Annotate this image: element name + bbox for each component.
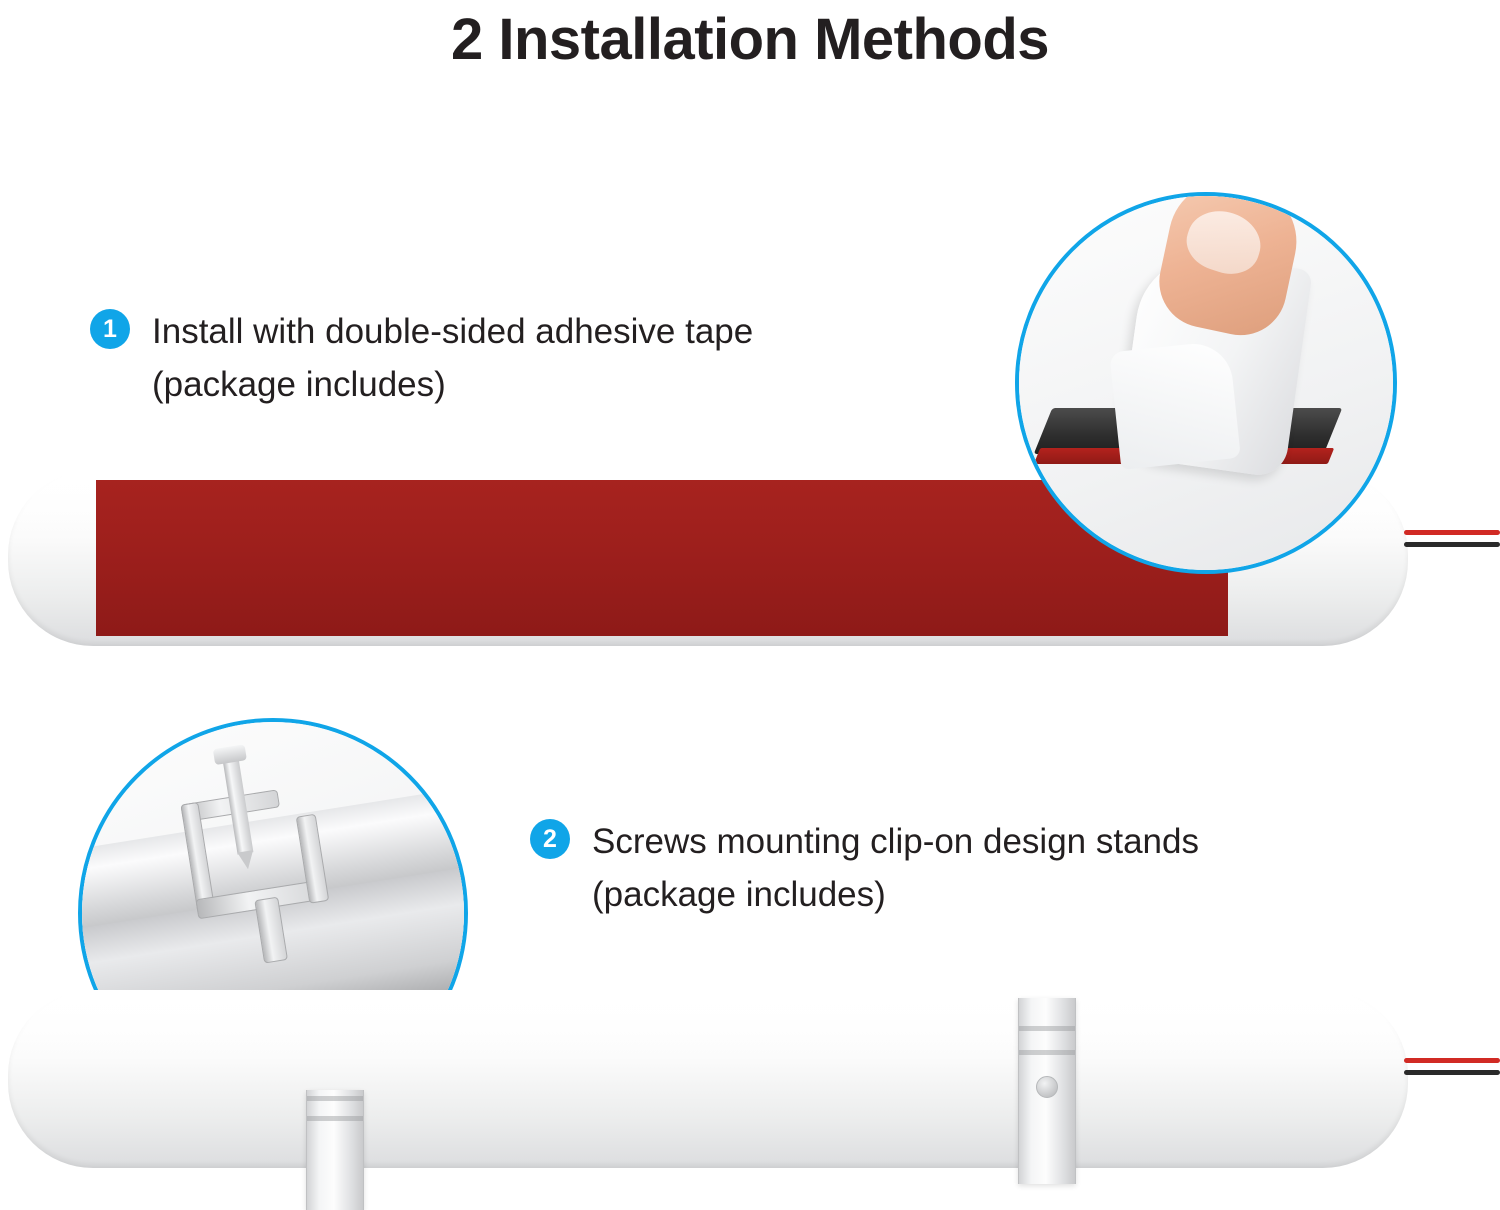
peeling-adhesive-tape-liner-photo [1015, 192, 1397, 574]
step-1-line-1: Install with double-sided adhesive tape [152, 312, 753, 351]
step-2-text: Screws mounting clip-on design stands (p… [592, 815, 1199, 921]
red-power-wire [1404, 1058, 1500, 1063]
step-1-number-badge: 1 [90, 309, 130, 349]
installation-step-2: 2 Screws mounting clip-on design stands … [530, 815, 1199, 921]
step-2-line-1: Screws mounting clip-on design stands [592, 822, 1199, 861]
page-title: 2 Installation Methods [0, 6, 1500, 73]
clip-band [1019, 1026, 1075, 1031]
clip-tab [254, 897, 288, 964]
black-power-wire [1404, 542, 1500, 547]
mounting-clip-left [306, 1090, 364, 1210]
clip-band [307, 1116, 363, 1121]
step-1-line-2: (package includes) [152, 358, 753, 411]
step-2-number-badge: 2 [530, 819, 570, 859]
step-2-line-2: (package includes) [592, 868, 1199, 921]
light-bar-body [8, 990, 1408, 1168]
clip-band [1019, 1050, 1075, 1055]
led-light-bar-with-mounting-clips [8, 990, 1428, 1180]
white-tape-liner-lower [1109, 340, 1241, 470]
metal-mounting-clip [180, 781, 353, 962]
mounting-clip-right [1018, 998, 1076, 1184]
installation-step-1: 1 Install with double-sided adhesive tap… [90, 305, 753, 411]
clip-band [307, 1096, 363, 1101]
step-1-text: Install with double-sided adhesive tape … [152, 305, 753, 411]
black-power-wire [1404, 1070, 1500, 1075]
red-power-wire [1404, 530, 1500, 535]
clip-screw-icon [1036, 1076, 1058, 1098]
